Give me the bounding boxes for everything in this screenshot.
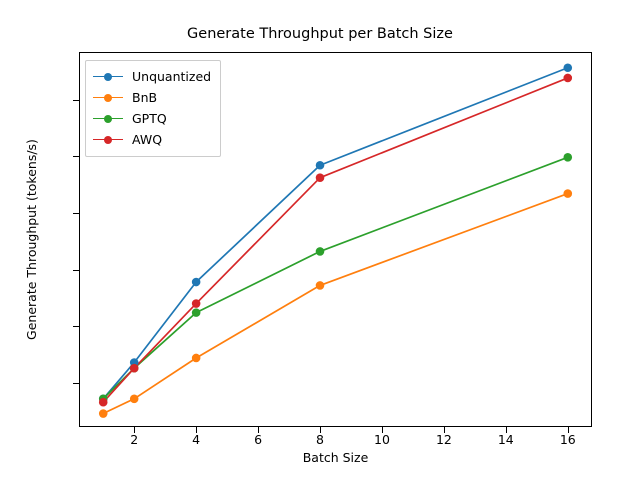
data-point-marker — [99, 398, 108, 407]
data-point-marker — [192, 278, 201, 287]
x-tick-label: 8 — [316, 432, 324, 447]
data-point-marker — [192, 354, 201, 363]
data-point-marker — [316, 247, 325, 256]
legend-swatch-icon — [93, 71, 123, 83]
x-tick-label: 16 — [560, 432, 576, 447]
data-point-marker — [563, 63, 572, 72]
figure-canvas: Generate Throughput per Batch Size Gener… — [0, 0, 640, 480]
data-point-marker — [563, 189, 572, 198]
x-axis-label: Batch Size — [79, 450, 592, 465]
legend-swatch-icon — [93, 113, 123, 125]
chart-title: Generate Throughput per Batch Size — [0, 26, 640, 42]
legend-item[interactable]: GPTQ — [93, 108, 211, 129]
x-tick-label: 10 — [374, 432, 390, 447]
legend-swatch-icon — [93, 92, 123, 104]
legend-item[interactable]: AWQ — [93, 129, 211, 150]
legend-swatch-icon — [93, 134, 123, 146]
series-line — [103, 157, 568, 398]
data-point-marker — [316, 173, 325, 182]
data-point-marker — [130, 364, 139, 373]
legend-label: BnB — [132, 90, 157, 105]
data-point-marker — [130, 394, 139, 403]
data-point-marker — [316, 281, 325, 290]
x-tick-label: 12 — [436, 432, 452, 447]
legend-item[interactable]: BnB — [93, 87, 211, 108]
data-point-marker — [99, 409, 108, 418]
y-axis-label: Generate Throughput (tokens/s) — [22, 52, 42, 427]
data-point-marker — [192, 299, 201, 308]
legend-label: GPTQ — [132, 111, 167, 126]
data-point-marker — [316, 161, 325, 170]
x-tick-label: 14 — [498, 432, 514, 447]
legend-label: Unquantized — [132, 69, 211, 84]
legend-item[interactable]: Unquantized — [93, 66, 211, 87]
x-tick-label: 6 — [254, 432, 262, 447]
x-tick-label: 4 — [192, 432, 200, 447]
legend-label: AWQ — [132, 132, 162, 147]
data-point-marker — [563, 74, 572, 83]
data-point-marker — [563, 153, 572, 162]
series-line — [103, 194, 568, 414]
x-tick-label: 2 — [130, 432, 138, 447]
data-point-marker — [192, 308, 201, 317]
legend: UnquantizedBnBGPTQAWQ — [85, 60, 221, 157]
